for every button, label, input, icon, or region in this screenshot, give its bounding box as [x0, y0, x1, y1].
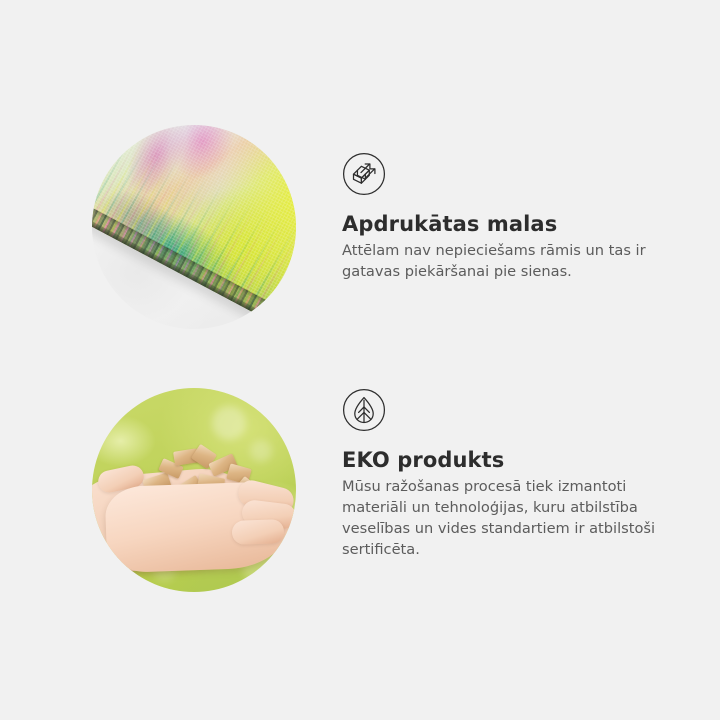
bokeh-highlight — [212, 406, 246, 440]
feature-title: EKO produkts — [342, 448, 694, 472]
leaf-icon — [342, 388, 386, 432]
feature-description: Attēlam nav nepieciešams rāmis un tas ir… — [342, 240, 690, 282]
feature-text-eco-product: EKO produkts Mūsu ražošanas procesā tiek… — [342, 388, 694, 560]
canvas-photo-backdrop — [92, 125, 296, 329]
eco-photo-background — [92, 388, 296, 592]
canvas-corner-photo — [92, 125, 296, 329]
feature-text-printed-edges: Apdrukātas malas Attēlam nav nepieciešam… — [342, 152, 690, 282]
feature-block-printed-edges: Apdrukātas malas Attēlam nav nepieciešam… — [0, 0, 720, 360]
hands-with-wood-chips-photo — [92, 388, 296, 592]
canvas-weave-texture — [92, 125, 296, 320]
feature-title: Apdrukātas malas — [342, 212, 690, 236]
canvas-slab — [92, 125, 296, 320]
finger — [232, 519, 285, 545]
product-features-page: Apdrukātas malas Attēlam nav nepieciešam… — [0, 0, 720, 720]
feature-description: Mūsu ražošanas procesā tiek izmantoti ma… — [342, 476, 694, 560]
feature-block-eco-product: EKO produkts Mūsu ražošanas procesā tiek… — [0, 360, 720, 720]
wrapped-canvas-edges-icon — [342, 152, 386, 196]
